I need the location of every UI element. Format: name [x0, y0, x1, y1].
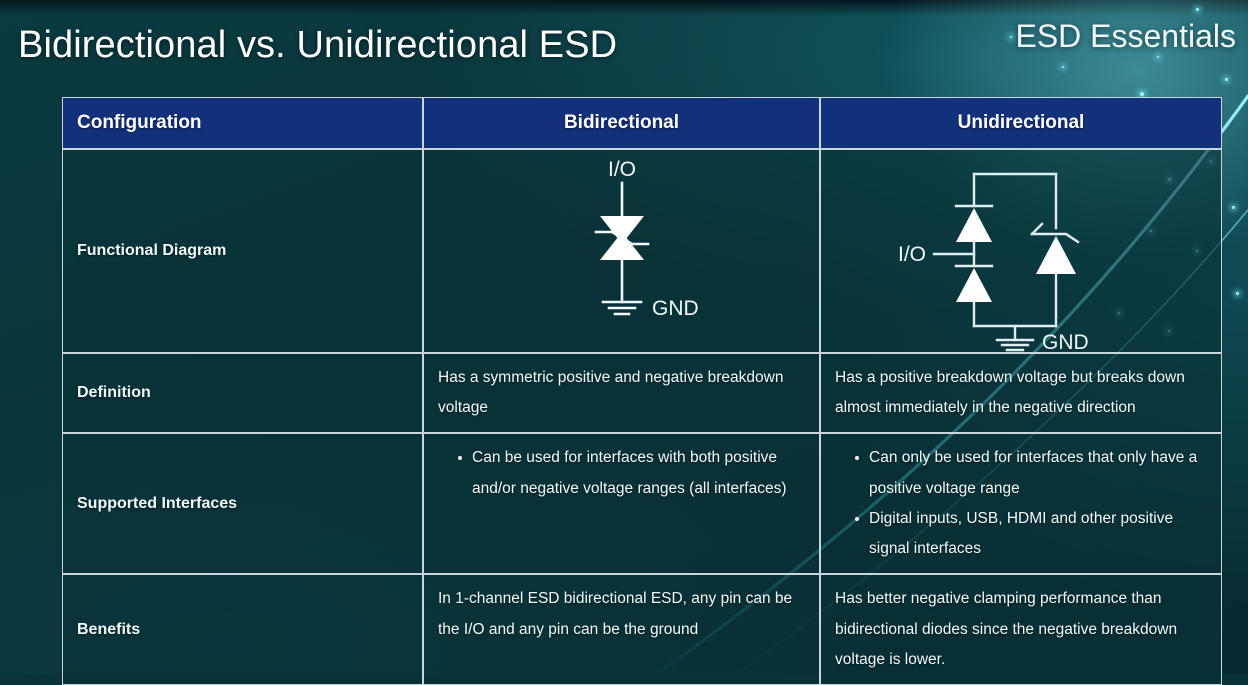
bidirectional-gnd-label: GND: [652, 297, 699, 320]
cell-definition-unidirectional: Has a positive breakdown voltage but bre…: [820, 353, 1222, 433]
column-header-configuration: Configuration: [62, 97, 423, 149]
page-title: Bidirectional vs. Unidirectional ESD: [18, 24, 617, 67]
list-item: Can only be used for interfaces that onl…: [855, 443, 1207, 503]
table-header-row: Configuration Bidirectional Unidirection…: [62, 97, 1222, 149]
row-label-supported-interfaces: Supported Interfaces: [62, 433, 423, 574]
glow-particle: [1232, 206, 1235, 209]
glow-particle: [1225, 78, 1228, 81]
unidirectional-gnd-label: GND: [1042, 331, 1089, 352]
glow-particle: [1196, 8, 1199, 11]
cell-benefits-unidirectional: Has better negative clamping performance…: [820, 574, 1222, 685]
unidirectional-tvs-schematic: I/O GND: [856, 150, 1186, 352]
glow-particle: [1140, 92, 1144, 96]
unidirectional-io-label: I/O: [898, 243, 926, 266]
glow-particle: [1010, 36, 1012, 38]
bullet-list-unidirectional: Can only be used for interfaces that onl…: [835, 443, 1207, 564]
column-header-bidirectional: Bidirectional: [423, 97, 820, 149]
table-row-functional-diagram: Functional Diagram: [62, 149, 1222, 353]
bidirectional-tvs-schematic: I/O GND: [472, 150, 772, 352]
column-header-unidirectional: Unidirectional: [820, 97, 1222, 149]
row-label-definition: Definition: [62, 353, 423, 433]
bullet-list-bidirectional: Can be used for interfaces with both pos…: [438, 443, 805, 503]
slide-kicker: ESD Essentials: [1015, 18, 1236, 55]
list-item: Can be used for interfaces with both pos…: [458, 443, 805, 503]
table-row-definition: Definition Has a symmetric positive and …: [62, 353, 1222, 433]
table-row-benefits: Benefits In 1-channel ESD bidirectional …: [62, 574, 1222, 685]
table-row-supported-interfaces: Supported Interfaces Can be used for int…: [62, 433, 1222, 574]
row-label-functional-diagram: Functional Diagram: [62, 149, 423, 353]
cell-bidirectional-diagram: I/O GND: [423, 149, 820, 353]
cell-interfaces-bidirectional: Can be used for interfaces with both pos…: [423, 433, 820, 574]
cell-interfaces-unidirectional: Can only be used for interfaces that onl…: [820, 433, 1222, 574]
row-label-benefits: Benefits: [62, 574, 423, 685]
cell-definition-bidirectional: Has a symmetric positive and negative br…: [423, 353, 820, 433]
glow-particle: [1157, 56, 1159, 58]
cell-benefits-bidirectional: In 1-channel ESD bidirectional ESD, any …: [423, 574, 820, 685]
comparison-table: Configuration Bidirectional Unidirection…: [62, 97, 1222, 685]
glow-particle: [1062, 66, 1064, 68]
cell-unidirectional-diagram: I/O GND: [820, 149, 1222, 353]
bidirectional-io-label: I/O: [607, 158, 635, 181]
glow-particle: [1236, 292, 1239, 295]
list-item: Digital inputs, USB, HDMI and other posi…: [855, 504, 1207, 564]
